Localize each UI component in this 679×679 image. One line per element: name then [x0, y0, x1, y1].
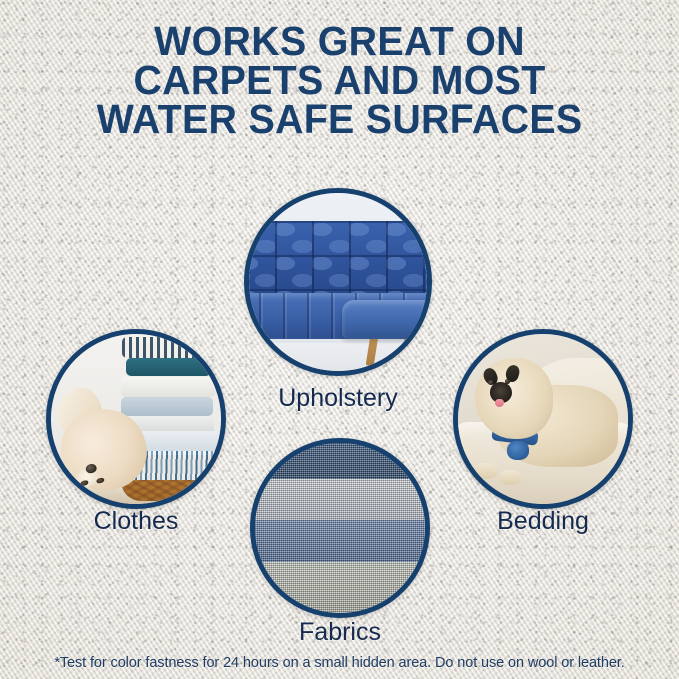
upholstery-label: Upholstery [238, 385, 438, 411]
fabric-swatch-sage-grey [255, 562, 425, 613]
headline-line-2: CARPETS AND MOST [14, 61, 666, 100]
folded-linen-white [121, 377, 216, 397]
pug-tongue [495, 399, 504, 407]
disclaimer-text: *Test for color fastness for 24 hours on… [0, 655, 679, 671]
fabric-weave-texture [255, 479, 425, 523]
sofa-chaise-ottoman [342, 300, 427, 339]
upholstery-floor [249, 343, 427, 371]
fabric-swatch-medium-blue [255, 520, 425, 566]
pug-paw-left [475, 463, 497, 478]
pug-head [475, 358, 553, 440]
fabric-weave-texture [255, 443, 425, 482]
fabrics-circle[interactable] [250, 438, 430, 618]
folded-linen-teal [126, 358, 211, 377]
fabric-weave-texture [255, 562, 425, 613]
bedding-photo [458, 334, 628, 504]
sofa-tufting-pattern [249, 221, 427, 298]
upholstery-photo [249, 193, 427, 371]
folded-linen-blue-grey [121, 397, 213, 416]
clothes-photo [51, 334, 221, 504]
clothes-label: Clothes [36, 508, 236, 534]
upholstery-circle[interactable] [244, 188, 432, 376]
bedding-circle[interactable] [453, 329, 633, 509]
sofa-backrest [249, 221, 427, 298]
fabric-weave-texture [255, 520, 425, 566]
headline: WORKS GREAT ON CARPETS AND MOST WATER SA… [14, 22, 666, 139]
pug-bone-tag [507, 441, 529, 460]
headline-line-3: WATER SAFE SURFACES [14, 100, 666, 139]
promo-graphic: WORKS GREAT ON CARPETS AND MOST WATER SA… [0, 0, 679, 679]
folded-linen-striped [122, 337, 217, 357]
fabric-swatch-dark-blue [255, 443, 425, 482]
pug-paw-right [499, 470, 521, 485]
fabric-swatch-light-grey [255, 479, 425, 523]
dog-eye-right [96, 477, 105, 484]
fabrics-label: Fabrics [240, 619, 440, 645]
bedding-label: Bedding [443, 508, 643, 534]
clothes-circle[interactable] [46, 329, 226, 509]
pug-eye-left [488, 380, 493, 385]
fabrics-photo [255, 443, 425, 613]
headline-line-1: WORKS GREAT ON [14, 22, 666, 61]
pug-eye-right [505, 379, 510, 384]
